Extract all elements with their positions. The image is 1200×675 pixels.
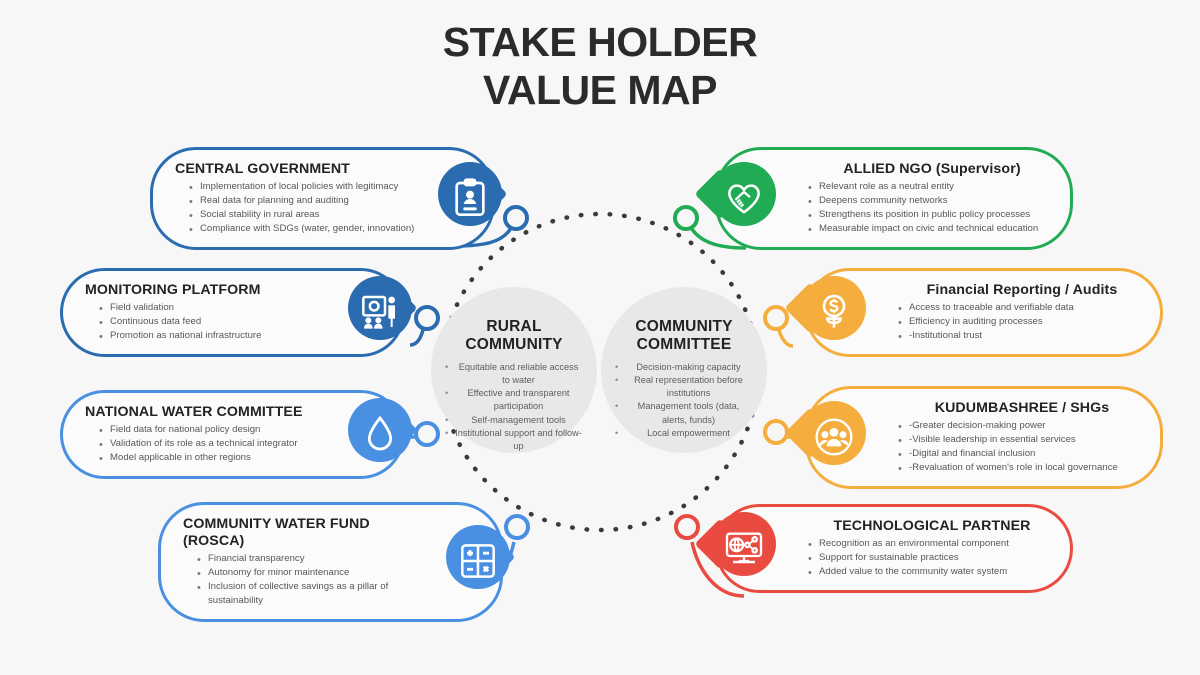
card-kudumbashree-shgs[interactable]: KUDUMBASHREE / SHGs -Greater decision-ma…: [805, 386, 1163, 489]
card-bullet-list: Field validation Continuous data feed Pr…: [99, 301, 328, 343]
card-financial-reporting-audits[interactable]: Financial Reporting / Audits Access to t…: [805, 268, 1163, 357]
card-bullet-list: Implementation of local policies with le…: [189, 180, 418, 236]
card-title: TECHNOLOGICAL PARTNER: [794, 518, 1070, 535]
card-bullet-list: Financial transparency Autonomy for mino…: [197, 552, 426, 608]
card-bullet: -Greater decision-making power: [898, 419, 1160, 433]
card-content: CENTRAL GOVERNMENT Implementation of loc…: [153, 150, 434, 247]
card-bullet: Financial transparency: [197, 552, 426, 566]
calculator-icon: [442, 525, 516, 599]
card-bullet: Measurable impact on civic and technical…: [808, 222, 1070, 236]
core-circle-rural-community: RURAL COMMUNITY Equitable and reliable a…: [431, 287, 597, 453]
core-bullet: Equitable and reliable access to water: [445, 361, 583, 387]
card-bullet-list: Relevant role as a neutral entity Deepen…: [808, 180, 1070, 236]
card-title: MONITORING PLATFORM: [85, 282, 328, 299]
card-bullet-list: Field data for national policy design Va…: [99, 423, 328, 465]
card-bullet: Access to traceable and verifiable data: [898, 301, 1160, 315]
card-bullet: Relevant role as a neutral entity: [808, 180, 1070, 194]
card-bullet: Strengthens its position in public polic…: [808, 208, 1070, 222]
presentation-training-icon: [344, 276, 418, 350]
card-monitoring-platform[interactable]: MONITORING PLATFORM Field validation Con…: [60, 268, 405, 357]
card-title: CENTRAL GOVERNMENT: [175, 161, 418, 178]
water-drop-icon: [344, 398, 418, 472]
node-monitoring-platform[interactable]: [414, 305, 440, 331]
core-circle-community-committee: COMMUNITY COMMITTEE Decision-making capa…: [601, 287, 767, 453]
node-national-water-committee[interactable]: [414, 421, 440, 447]
core-bullet-list: Equitable and reliable access to water E…: [445, 361, 583, 452]
core-bullet: Local empowerment: [615, 427, 753, 440]
card-bullet: Validation of its role as a technical in…: [99, 437, 328, 451]
card-content: ALLIED NGO (Supervisor) Relevant role as…: [776, 150, 1070, 247]
core-title-line-2: COMMITTEE: [635, 336, 732, 354]
core-bullet: Management tools (data, alerts, funds): [615, 400, 753, 426]
card-bullet: Inclusion of collective savings as a pil…: [197, 580, 426, 608]
group-people-icon: [792, 401, 866, 475]
card-bullet: Efficiency in auditing processes: [898, 315, 1160, 329]
card-bullet: Social stability in rural areas: [189, 208, 418, 222]
card-bullet: Model applicable in other regions: [99, 451, 328, 465]
node-community-water-fund[interactable]: [504, 514, 530, 540]
card-bullet: Deepens community networks: [808, 194, 1070, 208]
handshake-heart-icon: [702, 162, 776, 236]
card-content: MONITORING PLATFORM Field validation Con…: [63, 271, 344, 354]
card-technological-partner[interactable]: TECHNOLOGICAL PARTNER Recognition as an …: [715, 504, 1073, 593]
card-national-water-committee[interactable]: NATIONAL WATER COMMITTEE Field data for …: [60, 390, 405, 479]
core-title-line-2: COMMUNITY: [465, 336, 562, 354]
card-content: NATIONAL WATER COMMITTEE Field data for …: [63, 393, 344, 476]
card-title: COMMUNITY WATER FUND (ROSCA): [183, 516, 426, 550]
card-bullet: Promotion as national infrastructure: [99, 329, 328, 343]
core-bullet: Real representation before institutions: [615, 374, 753, 400]
card-bullet: Field data for national policy design: [99, 423, 328, 437]
card-bullet: -Visible leadership in essential service…: [898, 433, 1160, 447]
node-technological-partner[interactable]: [674, 514, 700, 540]
card-bullet-list: Access to traceable and verifiable data …: [898, 301, 1160, 343]
card-content: KUDUMBASHREE / SHGs -Greater decision-ma…: [866, 389, 1160, 486]
card-content: Financial Reporting / Audits Access to t…: [866, 271, 1160, 354]
card-bullet: Added value to the community water syste…: [808, 565, 1070, 579]
dollar-coin-icon: [792, 276, 866, 350]
card-bullet: Real data for planning and auditing: [189, 194, 418, 208]
card-title: ALLIED NGO (Supervisor): [794, 161, 1070, 178]
card-title: Financial Reporting / Audits: [884, 282, 1160, 299]
core-title-line-1: RURAL: [465, 318, 562, 336]
core-bullet: Decision-making capacity: [615, 361, 753, 374]
core-bullet-list: Decision-making capacity Real representa…: [615, 361, 753, 439]
card-bullet: -Institutional trust: [898, 329, 1160, 343]
card-allied-ngo[interactable]: ALLIED NGO (Supervisor) Relevant role as…: [715, 147, 1073, 250]
card-bullet: Support for sustainable practices: [808, 551, 1070, 565]
card-bullet: Field validation: [99, 301, 328, 315]
card-community-water-fund[interactable]: COMMUNITY WATER FUND (ROSCA) Financial t…: [158, 502, 503, 622]
clipboard-person-icon: [434, 162, 508, 236]
card-bullet-list: Recognition as an environmental componen…: [808, 537, 1070, 579]
core-bullet: Self-management tools: [445, 414, 583, 427]
card-bullet: -Revaluation of women's role in local go…: [898, 461, 1160, 475]
card-content: COMMUNITY WATER FUND (ROSCA) Financial t…: [161, 505, 442, 619]
card-central-government[interactable]: CENTRAL GOVERNMENT Implementation of loc…: [150, 147, 495, 250]
monitor-network-icon: [702, 512, 776, 586]
node-financial-reporting[interactable]: [763, 305, 789, 331]
diagram-canvas: STAKE HOLDER VALUE MAP RURAL COMMUNITY E…: [0, 0, 1200, 675]
card-title: KUDUMBASHREE / SHGs: [884, 400, 1160, 417]
core-title: COMMUNITY COMMITTEE: [635, 318, 732, 354]
card-bullet: Implementation of local policies with le…: [189, 180, 418, 194]
node-kudumbashree[interactable]: [763, 419, 789, 445]
card-bullet: Autonomy for minor maintenance: [197, 566, 426, 580]
node-allied-ngo[interactable]: [673, 205, 699, 231]
node-central-government[interactable]: [503, 205, 529, 231]
card-bullet: Compliance with SDGs (water, gender, inn…: [189, 222, 418, 236]
card-title: NATIONAL WATER COMMITTEE: [85, 404, 328, 421]
core-bullet: Effective and transparent participation: [445, 387, 583, 413]
core-title-line-1: COMMUNITY: [635, 318, 732, 336]
card-bullet: -Digital and financial inclusion: [898, 447, 1160, 461]
card-content: TECHNOLOGICAL PARTNER Recognition as an …: [776, 507, 1070, 590]
core-bullet: Institutional support and follow-up: [445, 427, 583, 453]
core-title: RURAL COMMUNITY: [465, 318, 562, 354]
card-bullet: Continuous data feed: [99, 315, 328, 329]
card-bullet: Recognition as an environmental componen…: [808, 537, 1070, 551]
card-bullet-list: -Greater decision-making power -Visible …: [898, 419, 1160, 475]
